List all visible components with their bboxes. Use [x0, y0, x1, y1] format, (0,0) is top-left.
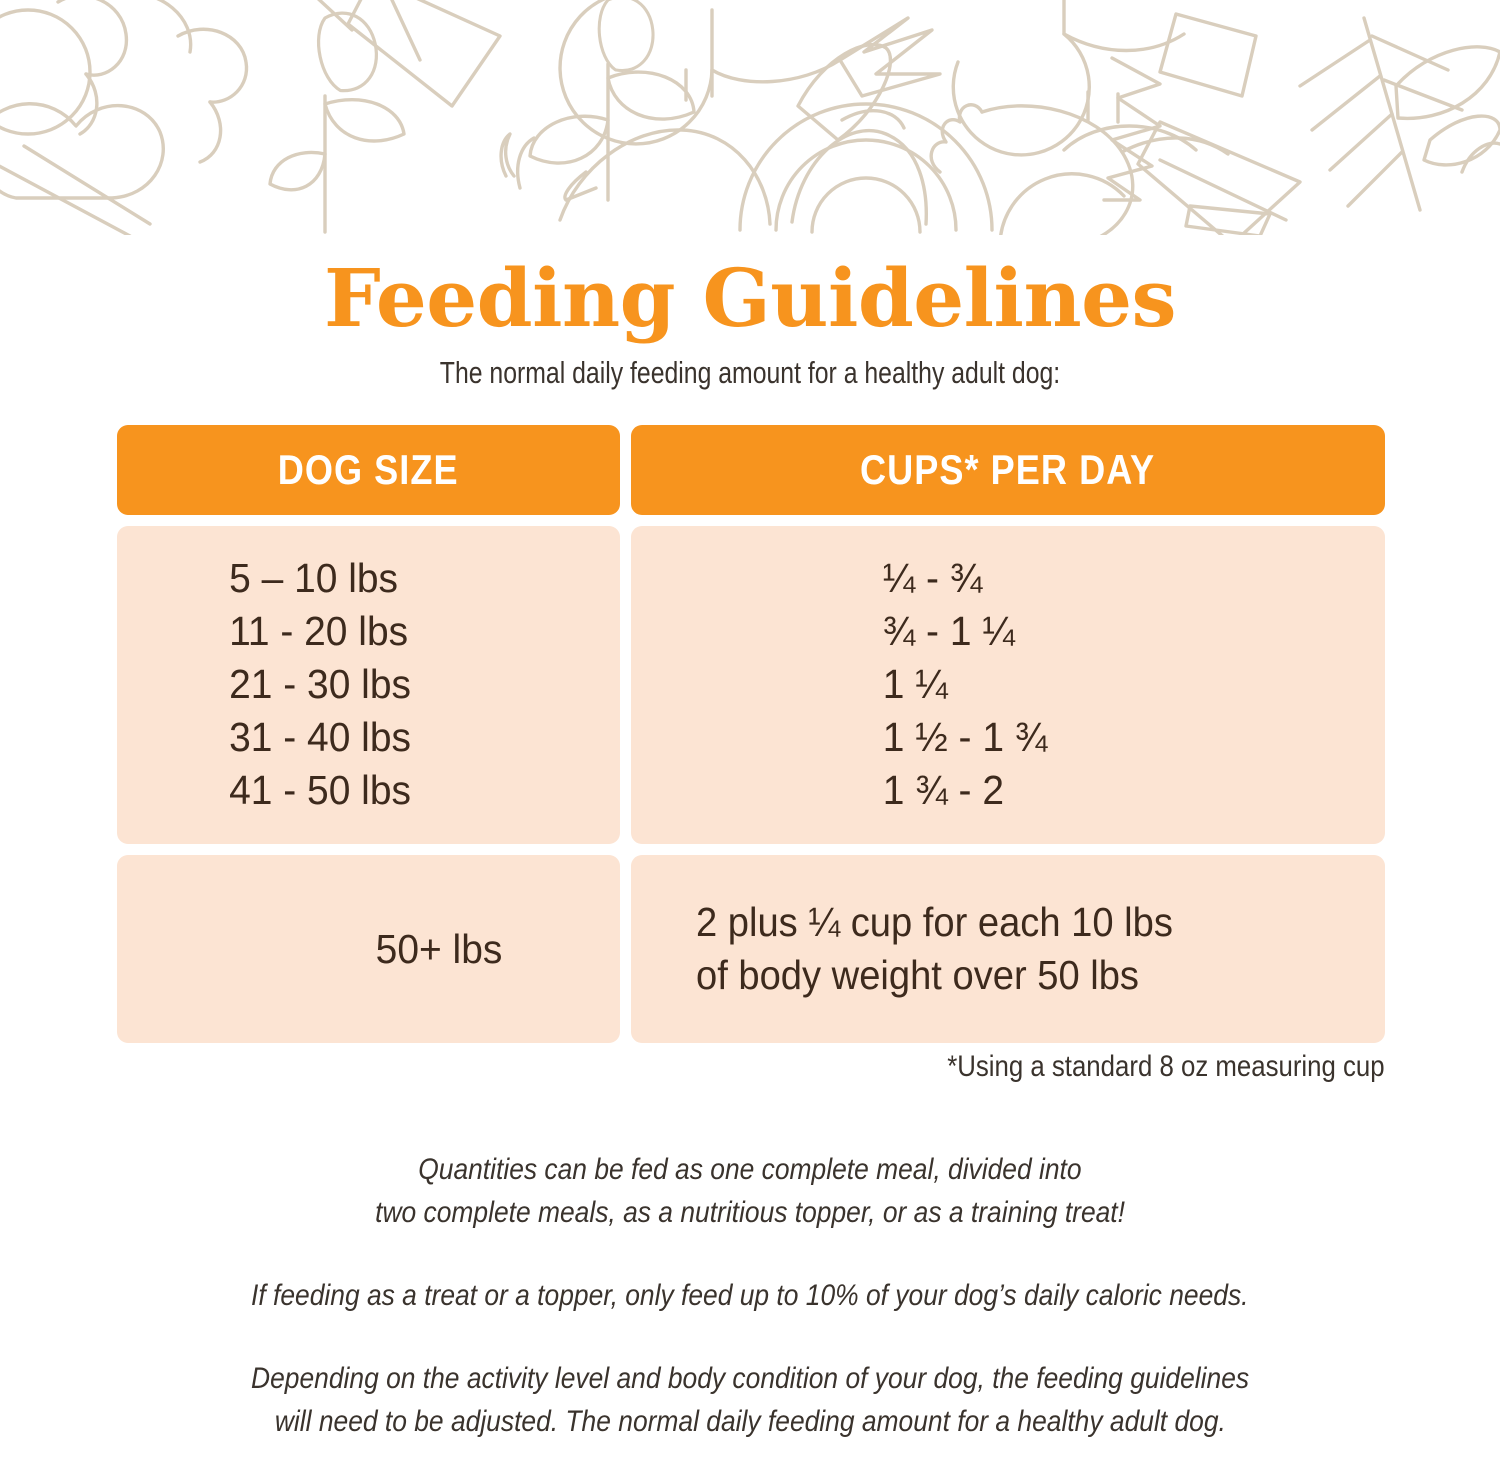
- table-row-cups-4: 1 ¾ - 2: [631, 764, 1347, 817]
- dog-size-value-cell: 5 – 10 lbs 11 - 20 lbs 21 - 30 lbs 31 - …: [117, 526, 620, 844]
- table-row-size-4: 41 - 50 lbs: [117, 764, 595, 817]
- column-header-cups-per-day: CUPS* PER DAY: [631, 425, 1385, 515]
- table-row-cups-3: 1 ½ - 1 ¾: [631, 711, 1347, 764]
- table-body-row: 5 – 10 lbs 11 - 20 lbs 21 - 30 lbs 31 - …: [117, 526, 1385, 844]
- page-subtitle: The normal daily feeding amount for a he…: [150, 354, 1350, 392]
- note-activity-level-line-1: Depending on the activity level and body…: [251, 1357, 1249, 1400]
- table-row-size-2: 21 - 30 lbs: [117, 658, 595, 711]
- large-dog-size-cell: 50+ lbs: [117, 855, 620, 1043]
- column-header-dog-size: DOG SIZE: [117, 425, 620, 515]
- large-dog-cups-line-1: 2 plus ¼ cup for each 10 lbs: [696, 896, 1173, 949]
- measuring-cup-footnote-text: *Using a standard 8 oz measuring cup: [948, 1050, 1385, 1084]
- page-title: Feeding Guidelines: [0, 252, 1500, 344]
- table-row-size-1: 11 - 20 lbs: [117, 605, 595, 658]
- column-header-cups-per-day-label: CUPS* PER DAY: [860, 446, 1155, 494]
- title-block: Feeding Guidelines The normal daily feed…: [0, 252, 1500, 392]
- table-row-cups-0: ¼ - ¾: [631, 552, 1347, 605]
- table-large-dog-row: 50+ lbs 2 plus ¼ cup for each 10 lbs of …: [117, 855, 1385, 1043]
- measuring-cup-footnote: *Using a standard 8 oz measuring cup: [0, 1050, 1385, 1084]
- table-row-cups-1: ¾ - 1 ¼: [631, 605, 1347, 658]
- table-row-cups-2: 1 ¼: [631, 658, 1347, 711]
- note-treat-topper: If feeding as a treat or a topper, only …: [0, 1274, 1500, 1317]
- table-header-row: DOG SIZE CUPS* PER DAY: [117, 425, 1385, 515]
- table-row-size-0: 5 – 10 lbs: [117, 552, 595, 605]
- feeding-guidelines-table: DOG SIZE CUPS* PER DAY 5 – 10 lbs 11 - 2…: [117, 425, 1385, 1054]
- note-quantities-line-2: two complete meals, as a nutritious topp…: [375, 1191, 1125, 1234]
- large-dog-size-value: 50+ lbs: [375, 923, 502, 976]
- note-quantities: Quantities can be fed as one complete me…: [0, 1148, 1500, 1234]
- feeding-notes: Quantities can be fed as one complete me…: [0, 1148, 1500, 1471]
- note-activity-level: Depending on the activity level and body…: [0, 1357, 1500, 1443]
- cups-per-day-value-cell: ¼ - ¾ ¾ - 1 ¼ 1 ¼ 1 ½ - 1 ¾ 1 ¾ - 2: [631, 526, 1385, 844]
- table-row-size-3: 31 - 40 lbs: [117, 711, 595, 764]
- note-activity-level-line-2: will need to be adjusted. The normal dai…: [274, 1400, 1225, 1443]
- large-dog-cups-cell: 2 plus ¼ cup for each 10 lbs of body wei…: [631, 855, 1385, 1043]
- note-treat-topper-text: If feeding as a treat or a topper, only …: [251, 1274, 1248, 1317]
- note-quantities-line-1: Quantities can be fed as one complete me…: [418, 1148, 1081, 1191]
- decorative-doodle-border: [0, 0, 1500, 235]
- column-header-dog-size-label: DOG SIZE: [278, 446, 459, 494]
- large-dog-cups-line-2: of body weight over 50 lbs: [696, 949, 1173, 1002]
